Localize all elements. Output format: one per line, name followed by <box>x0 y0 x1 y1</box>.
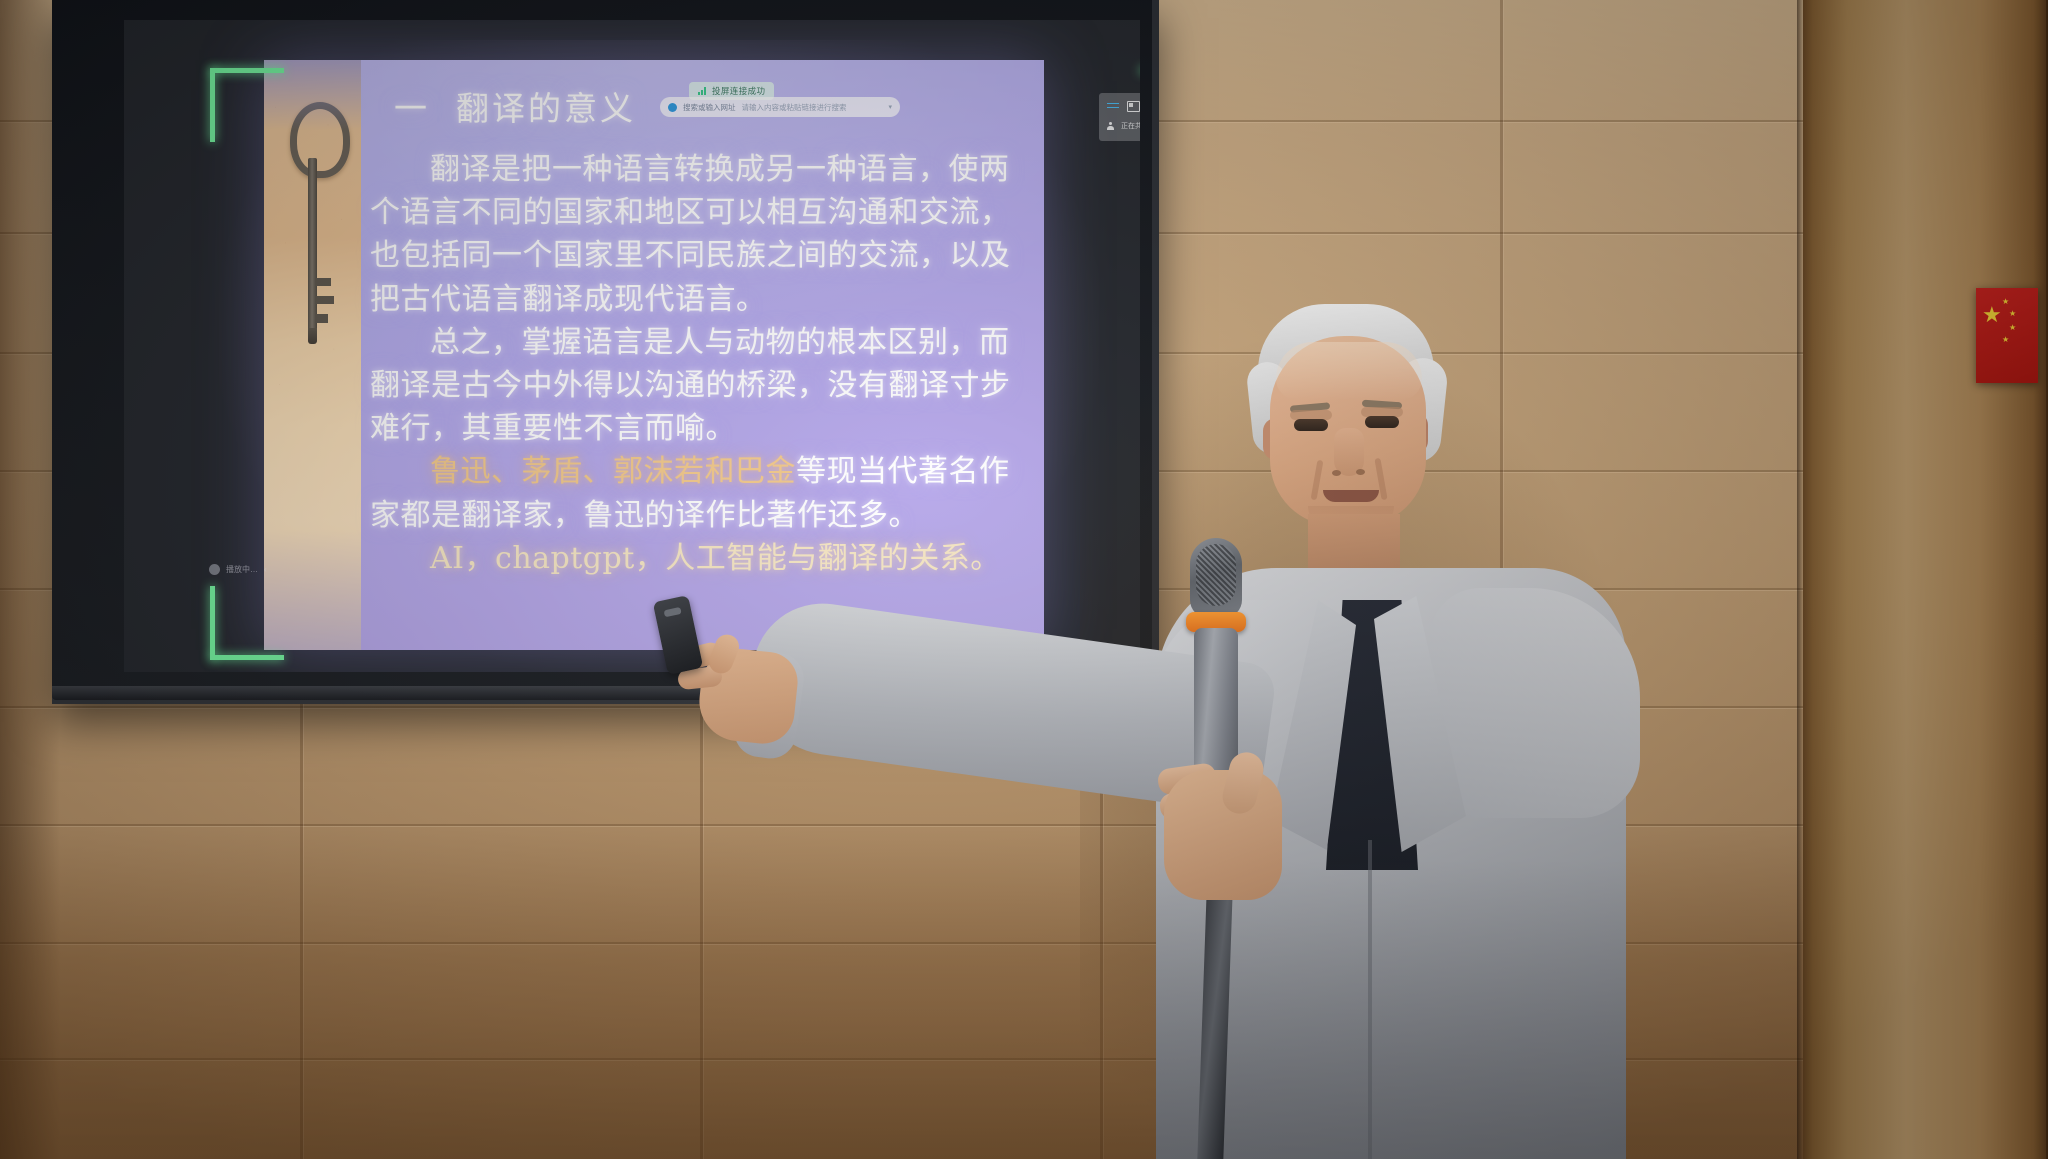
flag-star-small: ★ <box>2002 336 2009 344</box>
mini-player-overlay[interactable]: 播放中… ‹ <box>209 564 267 575</box>
lecture-hall-scene: ★ ★ ★ ★ ★ <box>0 0 2048 1159</box>
slide-paragraph-1: 翻译是把一种语言转换成另一种语言，使两个语言不同的国家和地区可以相互沟通和交流，… <box>370 148 1020 321</box>
window-icon[interactable] <box>1127 101 1140 112</box>
search-value: 搜索或输入网址 <box>683 102 736 113</box>
signal-bars-icon <box>698 87 707 95</box>
slide-closing-line: AI，chaptgpt，人工智能与翻译的关系。 <box>370 537 1020 580</box>
browser-dot-icon <box>668 103 677 112</box>
slide-heading-number: 一 <box>394 89 430 128</box>
corner-marker-bottom-left <box>210 586 284 660</box>
highlight-names: 鲁迅、茅盾、郭沫若和巴金 <box>430 454 796 489</box>
mouth <box>1323 490 1379 502</box>
slide-heading: 一翻译的意义 <box>394 82 636 130</box>
nostril-left <box>1332 470 1341 476</box>
slide-paragraph-highlight: 鲁迅、茅盾、郭沫若和巴金等现当代著名作家都是翻译家，鲁迅的译作比著作还多。 <box>370 450 1020 536</box>
flag-star-small: ★ <box>2009 324 2016 332</box>
chevron-down-icon[interactable]: ▾ <box>888 103 892 111</box>
flag-star-small: ★ <box>2009 310 2016 318</box>
pillar-edge <box>1797 0 1803 1159</box>
collapse-icon[interactable]: ‹ <box>264 565 267 574</box>
presentation-slide: 一翻译的意义 翻译是把一种语言转换成另一种语言，使两个语言不同的国家和地区可以相… <box>264 60 1044 650</box>
presenter <box>1130 300 1650 1159</box>
slide-heading-text: 翻译的意义 <box>456 89 636 128</box>
projection-screen-frame: 一翻译的意义 翻译是把一种语言转换成另一种语言，使两个语言不同的国家和地区可以相… <box>52 0 1159 704</box>
eye-right <box>1365 416 1399 428</box>
share-status-label: 正在共享 <box>1121 121 1140 131</box>
search-placeholder: 请输入内容或粘贴链接进行搜索 <box>742 102 883 113</box>
person-icon <box>1107 122 1114 131</box>
flag-star-large: ★ <box>1982 304 2002 326</box>
nostril-right <box>1356 469 1365 475</box>
search-input[interactable]: 搜索或输入网址 请输入内容或粘贴链接进行搜索 ▾ <box>660 97 900 117</box>
mini-player-label: 播放中… <box>226 564 258 575</box>
slide-body: 翻译是把一种语言转换成另一种语言，使两个语言不同的国家和地区可以相互沟通和交流，… <box>370 148 1020 580</box>
microphone-head <box>1190 538 1242 618</box>
flag-star-small: ★ <box>2002 298 2009 306</box>
toast-text: 投屏连接成功 <box>712 85 765 97</box>
shoulder-right <box>1430 588 1640 818</box>
corner-marker-top-left <box>210 68 284 142</box>
screen-share-control-panel[interactable]: 正在共享 屏幕 停止 <box>1099 93 1140 141</box>
circle-icon <box>209 564 220 575</box>
sliders-icon[interactable] <box>1107 102 1119 111</box>
slide-decor-strip <box>264 60 361 650</box>
wall-pillar <box>1803 0 2048 1159</box>
key-image <box>290 102 336 352</box>
projection-screen[interactable]: 一翻译的意义 翻译是把一种语言转换成另一种语言，使两个语言不同的国家和地区可以相… <box>124 20 1140 672</box>
forehead <box>1276 342 1422 400</box>
slide-paragraph-2: 总之，掌握语言是人与动物的根本区别，而翻译是古今中外得以沟通的桥梁，没有翻译寸步… <box>370 321 1020 451</box>
eye-left <box>1294 419 1328 431</box>
chinese-flag: ★ ★ ★ ★ ★ <box>1976 288 2038 383</box>
